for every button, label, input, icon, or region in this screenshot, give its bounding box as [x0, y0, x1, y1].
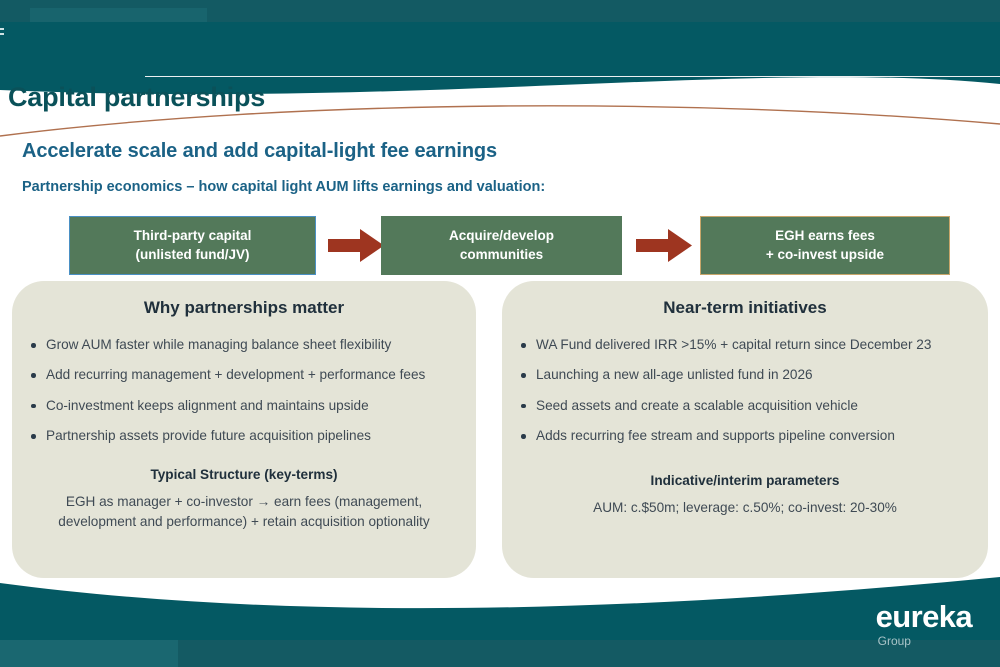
- logo-subtext: Group: [878, 635, 972, 647]
- panel-right-bullet-list: WA Fund delivered IRR >15% + capital ret…: [502, 336, 988, 445]
- footer-accent-chip: [0, 640, 178, 667]
- header-edge-marks: [0, 28, 5, 40]
- flow-box-1-line-1: Third-party capital: [134, 227, 252, 245]
- panel-right-subsection: Indicative/interim parameters AUM: c.$50…: [502, 473, 988, 518]
- list-item: Partnership assets provide future acquis…: [46, 427, 458, 445]
- page-subtitle: Accelerate scale and add capital-light f…: [22, 140, 497, 163]
- flow-arrow-right-icon-2: [636, 228, 692, 263]
- panel-near-term-initiatives: Near-term initiatives WA Fund delivered …: [502, 281, 988, 578]
- header-top-lighter-band: [0, 0, 1000, 22]
- panel-why-partnerships-matter: Why partnerships matter Grow AUM faster …: [12, 281, 476, 578]
- list-item: Launching a new all-age unlisted fund in…: [536, 366, 970, 384]
- flow-box-egh-earns-fees[interactable]: EGH earns fees + co-invest upside: [700, 216, 950, 275]
- list-item: Co-investment keeps alignment and mainta…: [46, 397, 458, 415]
- header-hairline-divider: [145, 76, 1000, 77]
- panel-right-title: Near-term initiatives: [502, 298, 988, 318]
- header-accent-chip: [30, 8, 207, 22]
- logo-wordmark: eureka: [876, 601, 972, 632]
- eureka-logo: eureka Group: [876, 601, 972, 647]
- list-item: Add recurring management + development +…: [46, 366, 458, 384]
- flow-box-2-line-2: communities: [460, 246, 543, 264]
- panel-right-subsection-title: Indicative/interim parameters: [518, 473, 972, 488]
- list-item: Seed assets and create a scalable acquis…: [536, 397, 970, 415]
- footer-bottom-strip: [0, 640, 1000, 667]
- list-item: Adds recurring fee stream and supports p…: [536, 427, 970, 445]
- flow-arrow-right-icon-1: [328, 228, 384, 263]
- panel-right-subsection-body: AUM: c.$50m; leverage: c.50%; co-invest:…: [518, 498, 972, 518]
- flow-box-3-line-1: EGH earns fees: [775, 227, 875, 245]
- flow-box-acquire-develop[interactable]: Acquire/develop communities: [381, 216, 622, 275]
- page-title: Capital partnerships: [8, 82, 265, 113]
- list-item: Grow AUM faster while managing balance s…: [46, 336, 458, 354]
- panel-left-subsection-body: EGH as manager + co-investor → earn fees…: [28, 492, 460, 531]
- footer-band: [0, 575, 1000, 667]
- panel-left-bullet-list: Grow AUM faster while managing balance s…: [12, 336, 476, 445]
- flow-box-2-line-1: Acquire/develop: [449, 227, 554, 245]
- flow-box-third-party-capital[interactable]: Third-party capital (unlisted fund/JV): [69, 216, 316, 275]
- footer-curve-shape: [0, 575, 1000, 667]
- slide-canvas: Capital partnerships Accelerate scale an…: [0, 0, 1000, 667]
- panel-left-subsection: Typical Structure (key-terms) EGH as man…: [12, 467, 476, 531]
- panel-left-subsection-title: Typical Structure (key-terms): [28, 467, 460, 482]
- flow-box-1-line-2: (unlisted fund/JV): [136, 246, 250, 264]
- page-lead-text: Partnership economics – how capital ligh…: [22, 179, 545, 195]
- flow-box-3-line-2: + co-invest upside: [766, 246, 884, 264]
- list-item: WA Fund delivered IRR >15% + capital ret…: [536, 336, 970, 354]
- panel-left-title: Why partnerships matter: [12, 298, 476, 318]
